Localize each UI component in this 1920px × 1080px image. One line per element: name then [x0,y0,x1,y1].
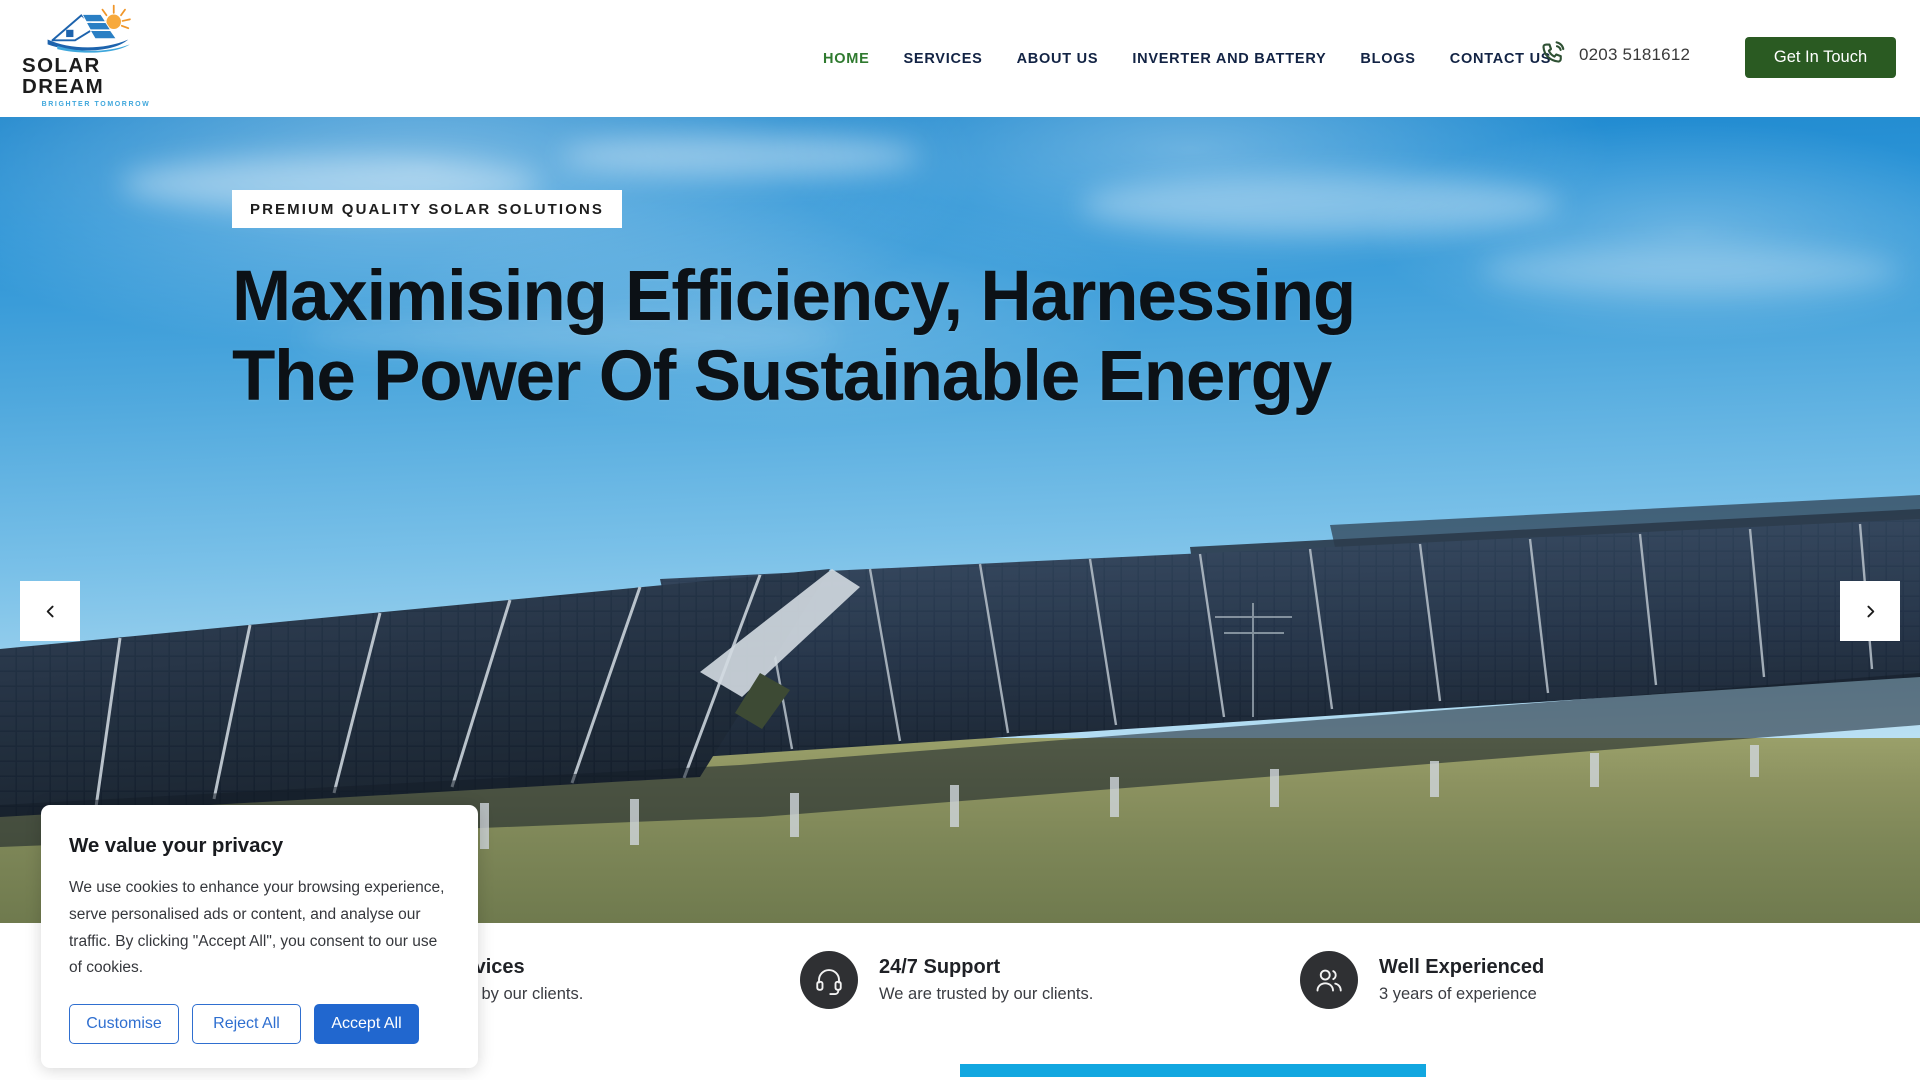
cookie-customise-button[interactable]: Customise [69,1004,179,1044]
main-navigation: HOME SERVICES ABOUT US INVERTER AND BATT… [806,0,1568,117]
get-in-touch-button[interactable]: Get In Touch [1745,37,1896,78]
feature-item-experience: Well Experienced 3 years of experience [1300,951,1544,1009]
hero-badge: PREMIUM QUALITY SOLAR SOLUTIONS [232,190,622,228]
feature-title: Well Experienced [1379,955,1544,980]
cookie-consent-dialog: We value your privacy We use cookies to … [41,805,478,1068]
logo-tagline: BRIGHTER TOMORROW [42,101,151,108]
cookie-dialog-title: We value your privacy [69,834,450,858]
headset-icon [800,951,858,1009]
cookie-reject-all-button[interactable]: Reject All [192,1004,301,1044]
phone-ring-icon [1538,40,1568,70]
carousel-prev-button[interactable] [20,581,80,641]
hero-content: PREMIUM QUALITY SOLAR SOLUTIONS Maximisi… [232,190,1355,416]
phone-number: 0203 5181612 [1579,45,1690,65]
cookie-dialog-actions: Customise Reject All Accept All [69,1004,450,1044]
feature-subtitle: We are trusted by our clients. [879,983,1093,1005]
nav-item-services[interactable]: SERVICES [887,51,1000,67]
site-logo[interactable]: SOLAR DREAM BRIGHTER TOMORROW [22,4,170,108]
logo-brand-name: SOLAR DREAM [22,56,170,97]
nav-item-home[interactable]: HOME [806,51,887,67]
hero-headline: Maximising Efficiency, Harnessing The Po… [232,257,1355,416]
chevron-left-icon [42,603,59,620]
site-header: SOLAR DREAM BRIGHTER TOMORROW HOME SERVI… [0,0,1920,117]
users-icon [1300,951,1358,1009]
nav-item-blogs[interactable]: BLOGS [1343,51,1432,67]
accent-bar [960,1064,1426,1077]
carousel-next-button[interactable] [1840,581,1900,641]
feature-item-support: 24/7 Support We are trusted by our clien… [800,951,1093,1009]
header-phone[interactable]: 0203 5181612 [1538,40,1690,70]
feature-subtitle: 3 years of experience [1379,983,1544,1005]
solar-house-sun-logo-icon [32,4,160,54]
nav-item-inverter-and-battery[interactable]: INVERTER AND BATTERY [1115,51,1343,67]
hero-slider: PREMIUM QUALITY SOLAR SOLUTIONS Maximisi… [0,117,1920,923]
chevron-right-icon [1862,603,1879,620]
nav-item-about-us[interactable]: ABOUT US [1000,51,1116,67]
feature-title: 24/7 Support [879,955,1093,980]
page-root: SOLAR DREAM BRIGHTER TOMORROW HOME SERVI… [0,0,1920,1080]
cookie-dialog-body: We use cookies to enhance your browsing … [69,875,450,982]
cookie-accept-all-button[interactable]: Accept All [314,1004,419,1044]
